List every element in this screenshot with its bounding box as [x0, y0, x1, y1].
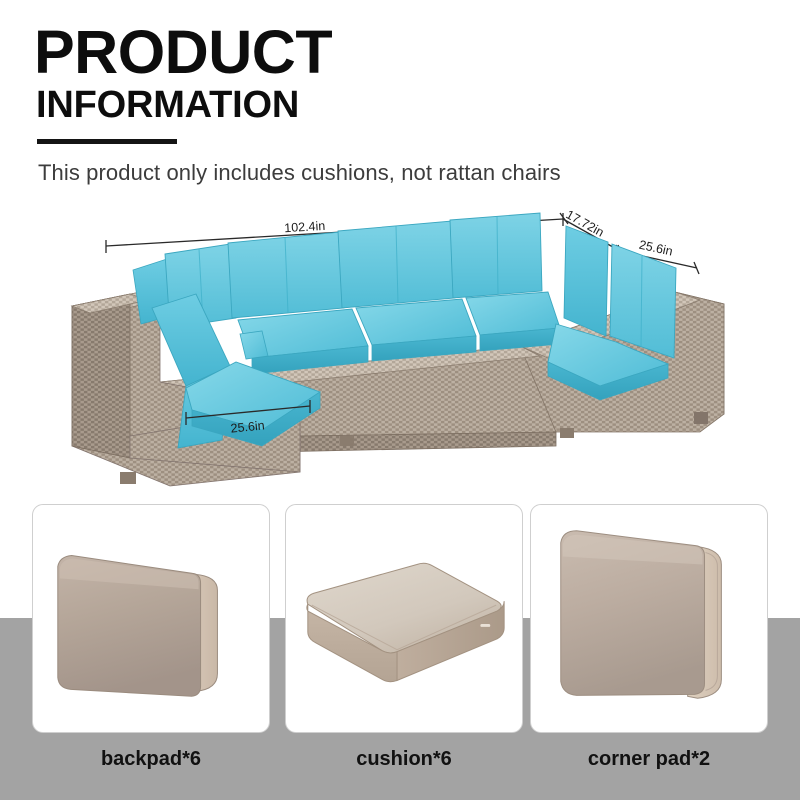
product-information-page: PRODUCT INFORMATION This product only in… [0, 0, 800, 800]
part-label-corner-pad: corner pad*2 [530, 745, 768, 773]
wicker-foot-far [694, 412, 708, 424]
dimension-label-overall-width: 102.4in [284, 219, 326, 235]
part-label-cushion: cushion*6 [285, 745, 523, 773]
backpad-4 [450, 213, 542, 298]
part-label-backpad: backpad*6 [32, 745, 270, 773]
seat-cushion-3 [466, 292, 560, 335]
backpad-corner-1 [564, 226, 608, 336]
corner-pad-illustration [531, 505, 767, 732]
title-divider [37, 139, 177, 144]
part-card-corner-pad[interactable] [530, 504, 768, 733]
part-card-cushion[interactable] [285, 504, 523, 733]
backpad-illustration [33, 505, 269, 732]
wicker-foot-right [560, 428, 574, 438]
wicker-foot-mid [340, 436, 354, 446]
wicker-left-arm [72, 294, 130, 458]
wicker-foot-left [120, 472, 136, 484]
product-note: This product only includes cushions, not… [38, 160, 561, 186]
part-card-backpad[interactable] [32, 504, 270, 733]
sofa-diagram: 102.4in 17.72in 25.6in [0, 196, 800, 496]
page-title: PRODUCT [34, 24, 332, 82]
cushion-illustration [286, 505, 522, 732]
page-subtitle-heading: INFORMATION [36, 86, 299, 124]
